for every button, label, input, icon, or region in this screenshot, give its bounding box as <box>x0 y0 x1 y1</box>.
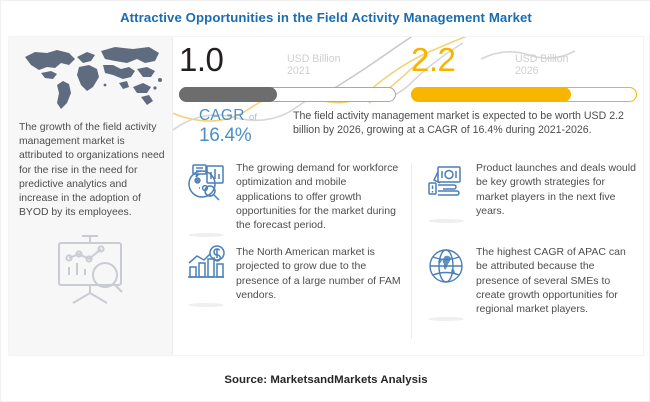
world-map-icon <box>17 43 165 115</box>
stat-block-2026: 2.2 USD Billion 2026 <box>411 43 637 77</box>
key-point-3-text: Product launches and deals would be key … <box>476 161 637 218</box>
stat-block-2021: 1.0 USD Billion 2021 <box>179 43 401 77</box>
progress-bar-2021 <box>179 87 396 102</box>
stat-unit-2026-line2: 2026 <box>515 65 539 77</box>
cagr-value: 16.4% <box>199 125 285 146</box>
summary-text: The field activity management market is … <box>293 109 633 138</box>
key-point-2-icon-wrap <box>185 245 227 302</box>
stat-unit-2021: USD Billion 2021 <box>287 53 341 78</box>
key-point-3-icon-wrap <box>425 161 467 218</box>
stat-unit-2026-line1: USD Billion <box>515 53 569 65</box>
stat-unit-2026: USD Billion 2026 <box>515 53 569 78</box>
key-point-3: Product launches and deals would be key … <box>425 161 637 218</box>
key-point-3-icon-shadow <box>428 219 464 223</box>
key-point-2-icon-shadow <box>188 303 224 307</box>
title-bar: Attractive Opportunities in the Field Ac… <box>1 1 650 34</box>
hand-money-icon <box>425 161 467 203</box>
key-point-4-icon-wrap <box>425 245 467 316</box>
main-panel: The growth of the field activity managem… <box>9 37 643 355</box>
globe-icon <box>425 245 467 287</box>
page-title: Attractive Opportunities in the Field Ac… <box>120 10 532 25</box>
key-point-4-text: The highest CAGR of APAC can be attribut… <box>476 245 637 316</box>
key-point-2: The North American market is projected t… <box>185 245 401 302</box>
key-point-4-icon-shadow <box>428 317 464 321</box>
key-point-1-icon-shadow <box>188 233 224 237</box>
sidebar: The growth of the field activity managem… <box>9 37 173 355</box>
progress-bar-2026 <box>411 87 637 102</box>
key-point-1-text: The growing demand for workforce optimiz… <box>236 161 401 232</box>
key-point-2-text: The North American market is projected t… <box>236 245 401 302</box>
cagr-label-row: CAGR of <box>199 107 285 125</box>
content-area: 1.0 USD Billion 2021 2.2 USD Billion 202… <box>173 37 643 355</box>
key-point-1-icon-wrap <box>185 161 227 232</box>
sidebar-description: The growth of the field activity managem… <box>19 121 169 220</box>
infographic-frame: Attractive Opportunities in the Field Ac… <box>0 0 650 402</box>
source-text: Source: MarketsandMarkets Analysis <box>224 374 427 386</box>
presentation-analytics-icon <box>49 233 135 309</box>
key-point-1: The growing demand for workforce optimiz… <box>185 161 401 232</box>
cagr-label: CAGR <box>199 107 245 124</box>
column-divider <box>411 163 412 339</box>
key-points-grid: The growing demand for workforce optimiz… <box>173 159 643 349</box>
cagr-of-label: of <box>249 112 257 123</box>
progress-bar-2026-fill <box>411 87 571 102</box>
stat-unit-2021-line2: 2021 <box>287 65 311 77</box>
progress-bar-2021-fill <box>179 87 277 102</box>
key-point-4: The highest CAGR of APAC can be attribut… <box>425 245 637 316</box>
growth-chart-dollar-icon <box>185 245 227 287</box>
footer: Source: MarketsandMarkets Analysis <box>1 361 650 399</box>
cagr-block: CAGR of 16.4% <box>199 107 285 146</box>
market-analysis-icon <box>185 161 227 203</box>
stat-unit-2021-line1: USD Billion <box>287 53 341 65</box>
